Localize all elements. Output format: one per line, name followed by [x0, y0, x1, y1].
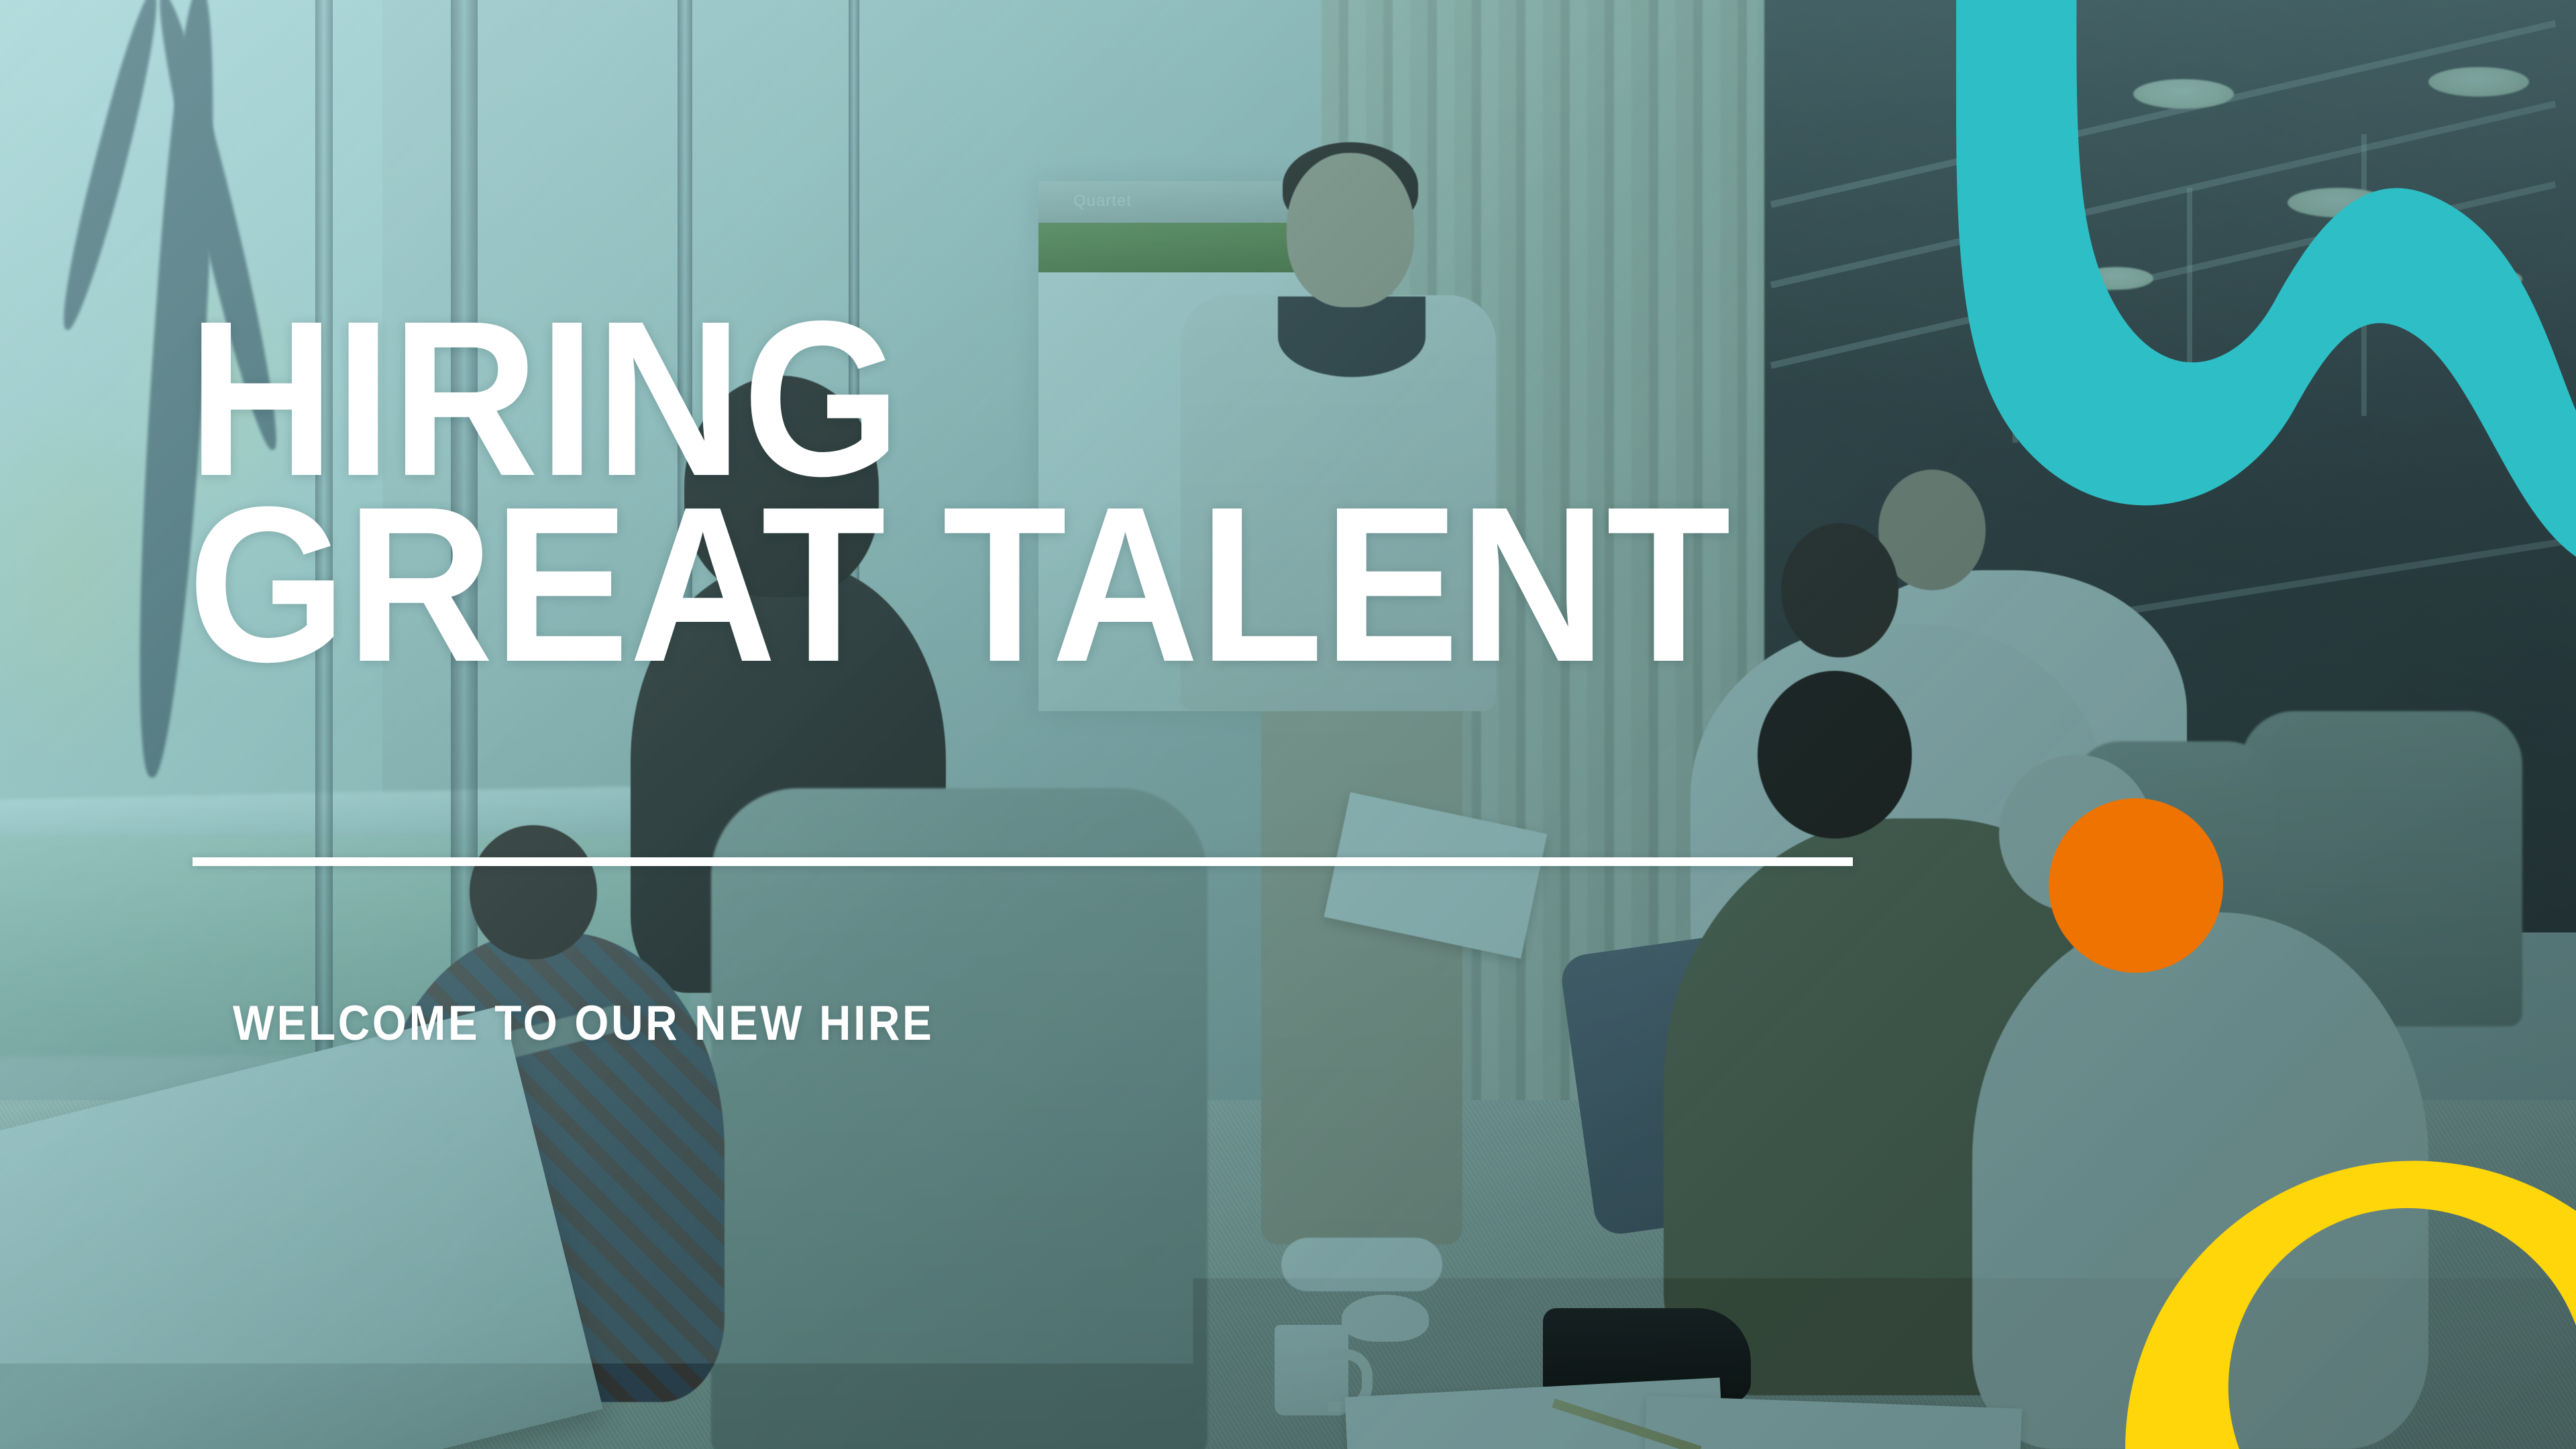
- subtitle: WELCOME TO OUR NEW HIRE: [233, 996, 934, 1051]
- headline-line-2: GREAT TALENT: [188, 491, 1731, 677]
- banner-content: HIRING GREAT TALENT WELCOME TO OUR NEW H…: [0, 0, 2576, 1449]
- title-divider-rule: [193, 857, 1853, 866]
- hiring-banner: Quartet: [0, 0, 2576, 1449]
- page-title: HIRING GREAT TALENT: [188, 305, 1865, 677]
